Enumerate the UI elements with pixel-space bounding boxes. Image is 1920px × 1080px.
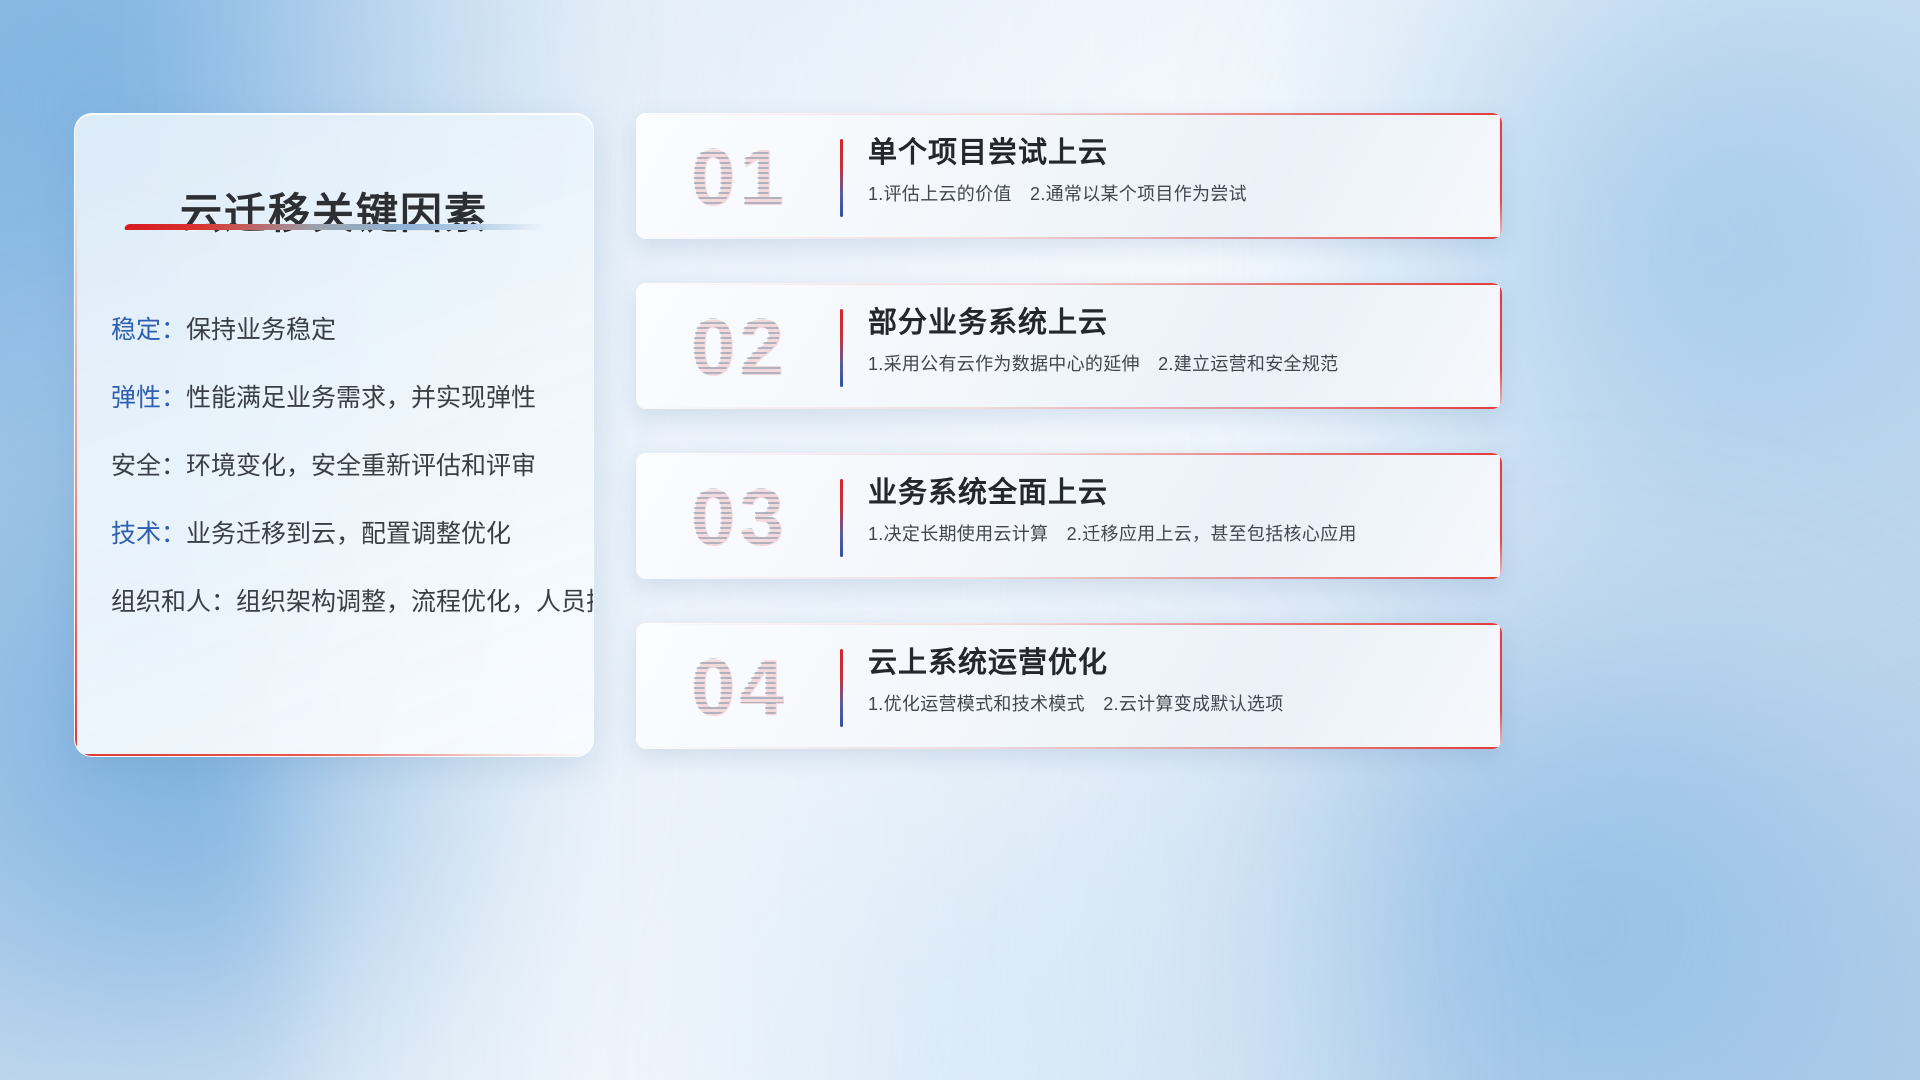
card-divider-bar [840,649,843,727]
card-title: 云上系统运营优化 [868,645,1462,681]
factor-key: 稳定： [111,316,186,344]
stage-card[interactable]: 0404云上系统运营优化1.优化运营模式和技术模式 2.云计算变成默认选项 [636,623,1502,749]
card-subtitle: 1.采用公有云作为数据中心的延伸 2.建立运营和安全规范 [868,353,1462,376]
factor-value: 组织架构调整，流程优化，人员技能培训 [236,588,594,616]
panel-title: 云迁移关键因素 [75,180,593,241]
card-divider-bar [840,139,843,217]
factor-list: 稳定：保持业务稳定弹性：性能满足业务需求，并实现弹性安全：环境变化，安全重新评估… [111,314,567,654]
slide-stage: 云迁移关键因素 稳定：保持业务稳定弹性：性能满足业务需求，并实现弹性安全：环境变… [0,0,1920,1080]
card-body: 业务系统全面上云1.决定长期使用云计算 2.迁移应用上云，甚至包括核心应用 [868,475,1462,547]
card-number: 03 [660,467,818,567]
factor-key: 组织和人： [111,588,236,616]
card-body: 云上系统运营优化1.优化运营模式和技术模式 2.云计算变成默认选项 [868,645,1462,717]
card-title: 单个项目尝试上云 [868,135,1462,171]
card-number: 04 [660,637,818,737]
factor-value: 保持业务稳定 [186,316,336,344]
factor-row: 组织和人：组织架构调整，流程优化，人员技能培训 [111,586,567,618]
card-number: 02 [660,297,818,397]
card-title: 业务系统全面上云 [868,475,1462,511]
factor-row: 安全：环境变化，安全重新评估和评审 [111,450,567,482]
key-factors-panel: 云迁移关键因素 稳定：保持业务稳定弹性：性能满足业务需求，并实现弹性安全：环境变… [74,113,594,757]
card-number: 01 [660,127,818,227]
card-top-accent-line [636,113,1502,115]
card-bottom-accent-line [636,237,1502,239]
stage-card[interactable]: 0101单个项目尝试上云1.评估上云的价值 2.通常以某个项目作为尝试 [636,113,1502,239]
card-bottom-accent-line [636,747,1502,749]
factor-value: 环境变化，安全重新评估和评审 [186,452,536,480]
factor-row: 稳定：保持业务稳定 [111,314,567,346]
factor-value: 业务迁移到云，配置调整优化 [186,520,511,548]
card-body: 部分业务系统上云1.采用公有云作为数据中心的延伸 2.建立运营和安全规范 [868,305,1462,377]
card-subtitle: 1.评估上云的价值 2.通常以某个项目作为尝试 [868,183,1462,206]
factor-value: 性能满足业务需求，并实现弹性 [186,384,536,412]
card-subtitle: 1.优化运营模式和技术模式 2.云计算变成默认选项 [868,693,1462,716]
card-divider-bar [840,479,843,557]
factor-row: 弹性：性能满足业务需求，并实现弹性 [111,382,567,414]
stage-card[interactable]: 0202部分业务系统上云1.采用公有云作为数据中心的延伸 2.建立运营和安全规范 [636,283,1502,409]
factor-key: 技术： [111,520,186,548]
stage-card[interactable]: 0303业务系统全面上云1.决定长期使用云计算 2.迁移应用上云，甚至包括核心应… [636,453,1502,579]
card-divider-bar [840,309,843,387]
card-bottom-accent-line [636,577,1502,579]
card-top-accent-line [636,453,1502,455]
card-top-accent-line [636,623,1502,625]
factor-key: 弹性： [111,384,186,412]
card-subtitle: 1.决定长期使用云计算 2.迁移应用上云，甚至包括核心应用 [868,523,1462,546]
factor-row: 技术：业务迁移到云，配置调整优化 [111,518,567,550]
card-body: 单个项目尝试上云1.评估上云的价值 2.通常以某个项目作为尝试 [868,135,1462,207]
card-title: 部分业务系统上云 [868,305,1462,341]
stage-card-list: 0101单个项目尝试上云1.评估上云的价值 2.通常以某个项目作为尝试0202部… [636,113,1502,793]
factor-key: 安全： [111,452,186,480]
card-bottom-accent-line [636,407,1502,409]
card-top-accent-line [636,283,1502,285]
title-underline-rule [123,224,544,230]
